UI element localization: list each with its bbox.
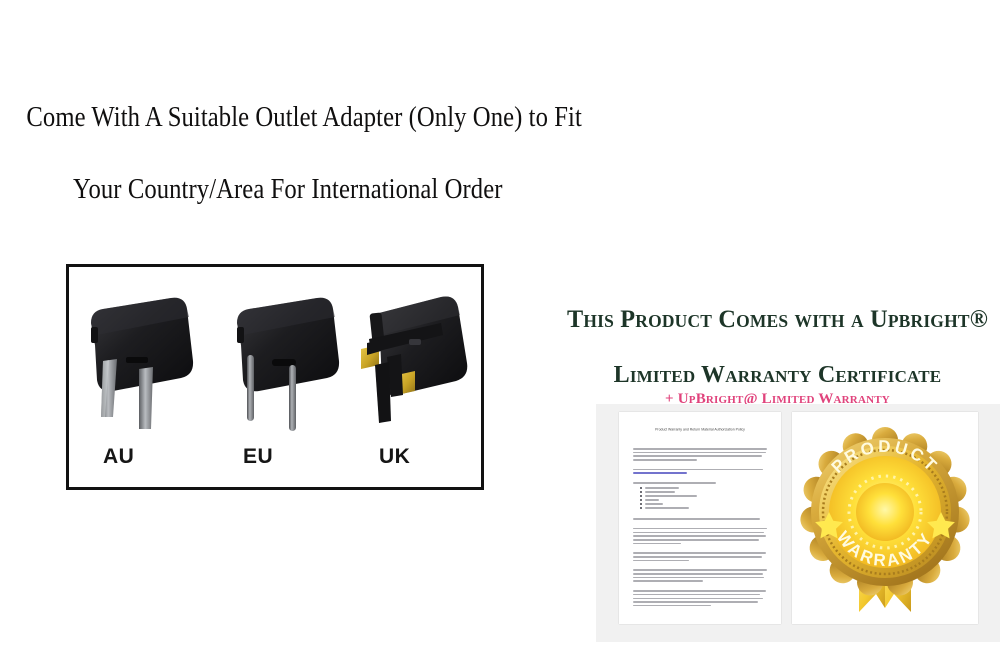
au-plug-icon bbox=[73, 283, 213, 433]
product-image-canvas: Come With A Suitable Outlet Adapter (Onl… bbox=[0, 0, 1000, 646]
plug-label-eu: EU bbox=[219, 445, 359, 469]
warranty-seal-page: PRODUCT WARRANTY bbox=[792, 412, 978, 624]
certificate-composite: Product Warranty and Return Material Aut… bbox=[596, 404, 1000, 642]
headline-line-1: Come With A Suitable Outlet Adapter (Onl… bbox=[26, 104, 582, 132]
eu-plug-icon bbox=[219, 283, 359, 433]
warranty-policy-document: Product Warranty and Return Material Aut… bbox=[619, 412, 781, 624]
plug-option-eu: EU bbox=[219, 267, 359, 487]
plug-option-uk: UK bbox=[345, 267, 485, 487]
plug-label-au: AU bbox=[73, 445, 213, 469]
warranty-heading: This Product Comes with a Upbright® bbox=[562, 306, 994, 334]
product-warranty-seal-icon: PRODUCT WARRANTY bbox=[797, 416, 973, 620]
document-title: Product Warranty and Return Material Aut… bbox=[655, 428, 745, 431]
plug-option-au: AU bbox=[73, 267, 213, 487]
headline-line-2: Your Country/Area For International Orde… bbox=[73, 176, 502, 204]
document-bullet-list bbox=[640, 487, 767, 509]
plug-label-uk: UK bbox=[345, 445, 485, 469]
document-body bbox=[633, 442, 767, 609]
warranty-subheading: Limited Warranty Certificate bbox=[555, 362, 1000, 389]
adapter-plug-panel: AU bbox=[66, 264, 484, 490]
uk-plug-icon bbox=[345, 283, 485, 433]
